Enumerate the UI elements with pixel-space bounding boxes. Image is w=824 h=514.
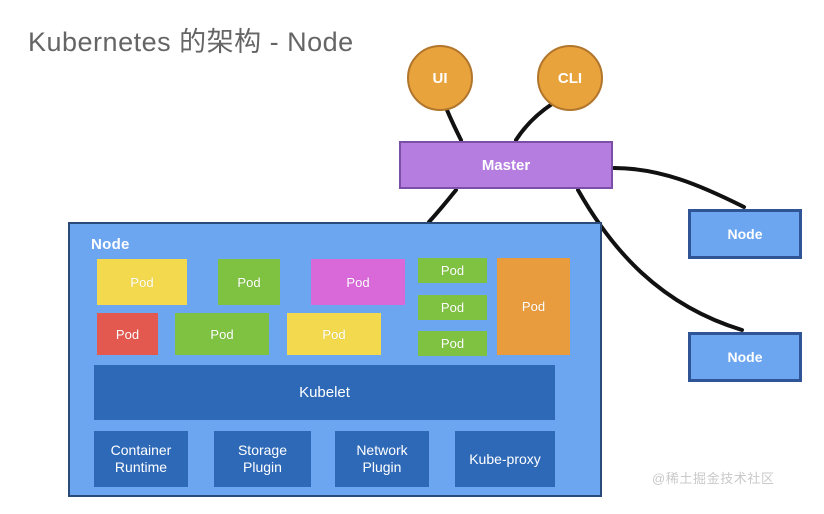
master-to-remote-node-1 [614, 168, 744, 207]
pod-label: Pod [441, 263, 464, 278]
pod-label: Pod [210, 327, 233, 342]
main-node-label: Node [91, 236, 130, 253]
cli-to-master [516, 104, 552, 140]
node-service-label: Kube-proxy [469, 451, 541, 468]
pod-box[interactable]: Pod [287, 313, 381, 355]
pod-box[interactable]: Pod [218, 259, 280, 305]
client-node-cli[interactable]: CLI [537, 45, 603, 111]
pod-label: Pod [322, 327, 345, 342]
remote-node-label-2: Node [728, 349, 763, 365]
remote-node-box-1[interactable]: Node [688, 209, 802, 259]
pod-box[interactable]: Pod [97, 259, 187, 305]
pod-label: Pod [130, 275, 153, 290]
master-node-box[interactable]: Master [399, 141, 613, 189]
node-service-label: Container Runtime [111, 442, 172, 476]
client-node-cli-label: CLI [558, 70, 582, 87]
client-node-ui-label: UI [433, 70, 448, 87]
node-service-label: Storage Plugin [238, 442, 287, 476]
pod-box[interactable]: Pod [97, 313, 158, 355]
watermark: @稀土掘金技术社区 [652, 468, 775, 487]
master-node-label: Master [482, 157, 530, 174]
remote-node-label-1: Node [728, 226, 763, 242]
pod-box[interactable]: Pod [418, 331, 487, 356]
pod-label: Pod [346, 275, 369, 290]
pod-label: Pod [237, 275, 260, 290]
pod-box[interactable]: Pod [418, 258, 487, 283]
pod-label: Pod [441, 300, 464, 315]
pod-box[interactable]: Pod [175, 313, 269, 355]
node-service-box[interactable]: Network Plugin [335, 431, 429, 487]
remote-node-box-2[interactable]: Node [688, 332, 802, 382]
kubelet-label: Kubelet [299, 384, 350, 401]
pod-label: Pod [522, 299, 545, 314]
master-to-main-node [429, 190, 456, 222]
pod-box[interactable]: Pod [311, 259, 405, 305]
pod-box[interactable]: Pod [497, 258, 570, 355]
ui-to-master [447, 110, 461, 140]
pod-label: Pod [441, 336, 464, 351]
node-service-box[interactable]: Storage Plugin [214, 431, 311, 487]
pod-label: Pod [116, 327, 139, 342]
node-service-label: Network Plugin [356, 442, 407, 476]
node-service-box[interactable]: Kube-proxy [455, 431, 555, 487]
client-node-ui[interactable]: UI [407, 45, 473, 111]
pod-box[interactable]: Pod [418, 295, 487, 320]
diagram-canvas: Kubernetes 的架构 - Node UI CLI Master Node… [0, 0, 824, 514]
kubelet-box[interactable]: Kubelet [94, 365, 555, 420]
node-service-box[interactable]: Container Runtime [94, 431, 188, 487]
